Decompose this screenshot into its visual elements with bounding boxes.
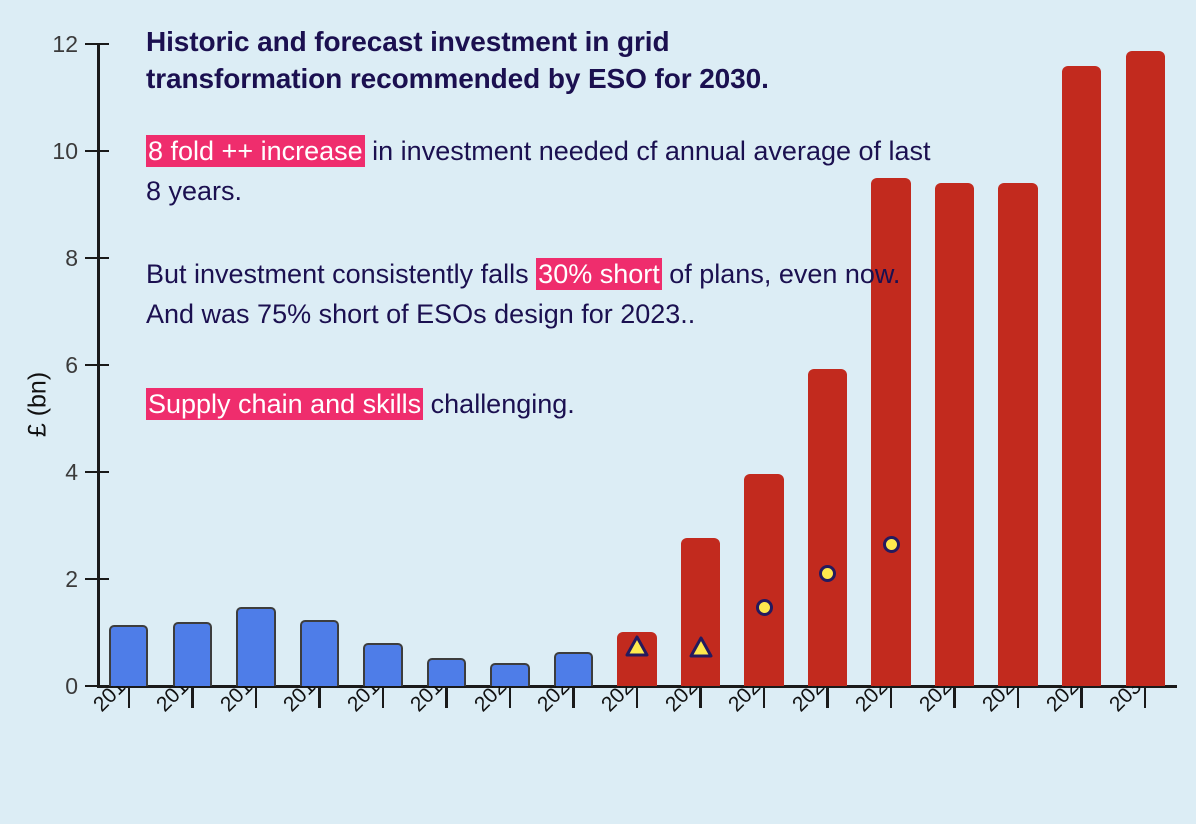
marker-circle-2024 [756,599,773,616]
bar-2017 [300,620,339,686]
note-2-lead: But investment consistently falls [146,259,536,289]
y-tick-label: 2 [18,566,78,593]
bar-2030 [1126,51,1165,686]
y-tick [85,578,109,581]
bar-2027 [935,183,974,686]
y-tick-label: 10 [18,138,78,165]
bar-2023 [681,538,720,686]
chart-canvas: £ (bn) 024681012 20142015201620172018201… [0,0,1196,824]
bar-2028 [998,183,1037,686]
y-tick [85,257,109,260]
note-1-highlight: 8 fold ++ increase [146,135,365,167]
y-tick-label: 0 [18,673,78,700]
bar-2021 [554,652,593,686]
note-supply-chain: Supply chain and skills challenging. [146,385,936,425]
note-3-highlight: Supply chain and skills [146,388,423,420]
y-tick-label: 12 [18,31,78,58]
note-3-rest: challenging. [423,389,575,419]
bar-2014 [109,625,148,686]
marker-circle-2026 [883,536,900,553]
bar-2015 [173,622,212,686]
chart-title-line-2: transformation recommended by ESO for 20… [146,63,769,94]
bar-2020 [490,663,529,686]
chart-title-line-1: Historic and forecast investment in grid [146,26,669,57]
bar-2018 [363,643,402,686]
note-2-highlight: 30% short [536,258,662,290]
bar-2024 [744,474,783,686]
y-tick-label: 8 [18,245,78,272]
marker-triangle-2022 [625,635,649,657]
annotation-block: Historic and forecast investment in grid… [146,24,936,424]
y-tick [85,43,109,46]
marker-triangle-2023 [689,636,713,658]
bar-2016 [236,607,275,686]
bar-2029 [1062,66,1101,686]
note-investment-increase: 8 fold ++ increase in investment needed … [146,132,936,211]
y-tick-label: 6 [18,352,78,379]
chart-title: Historic and forecast investment in grid… [146,24,936,98]
y-tick-label: 4 [18,459,78,486]
note-shortfall: But investment consistently falls 30% sh… [146,255,936,334]
y-tick [85,364,109,367]
y-tick [85,471,109,474]
y-tick [85,150,109,153]
bar-2019 [427,658,466,686]
